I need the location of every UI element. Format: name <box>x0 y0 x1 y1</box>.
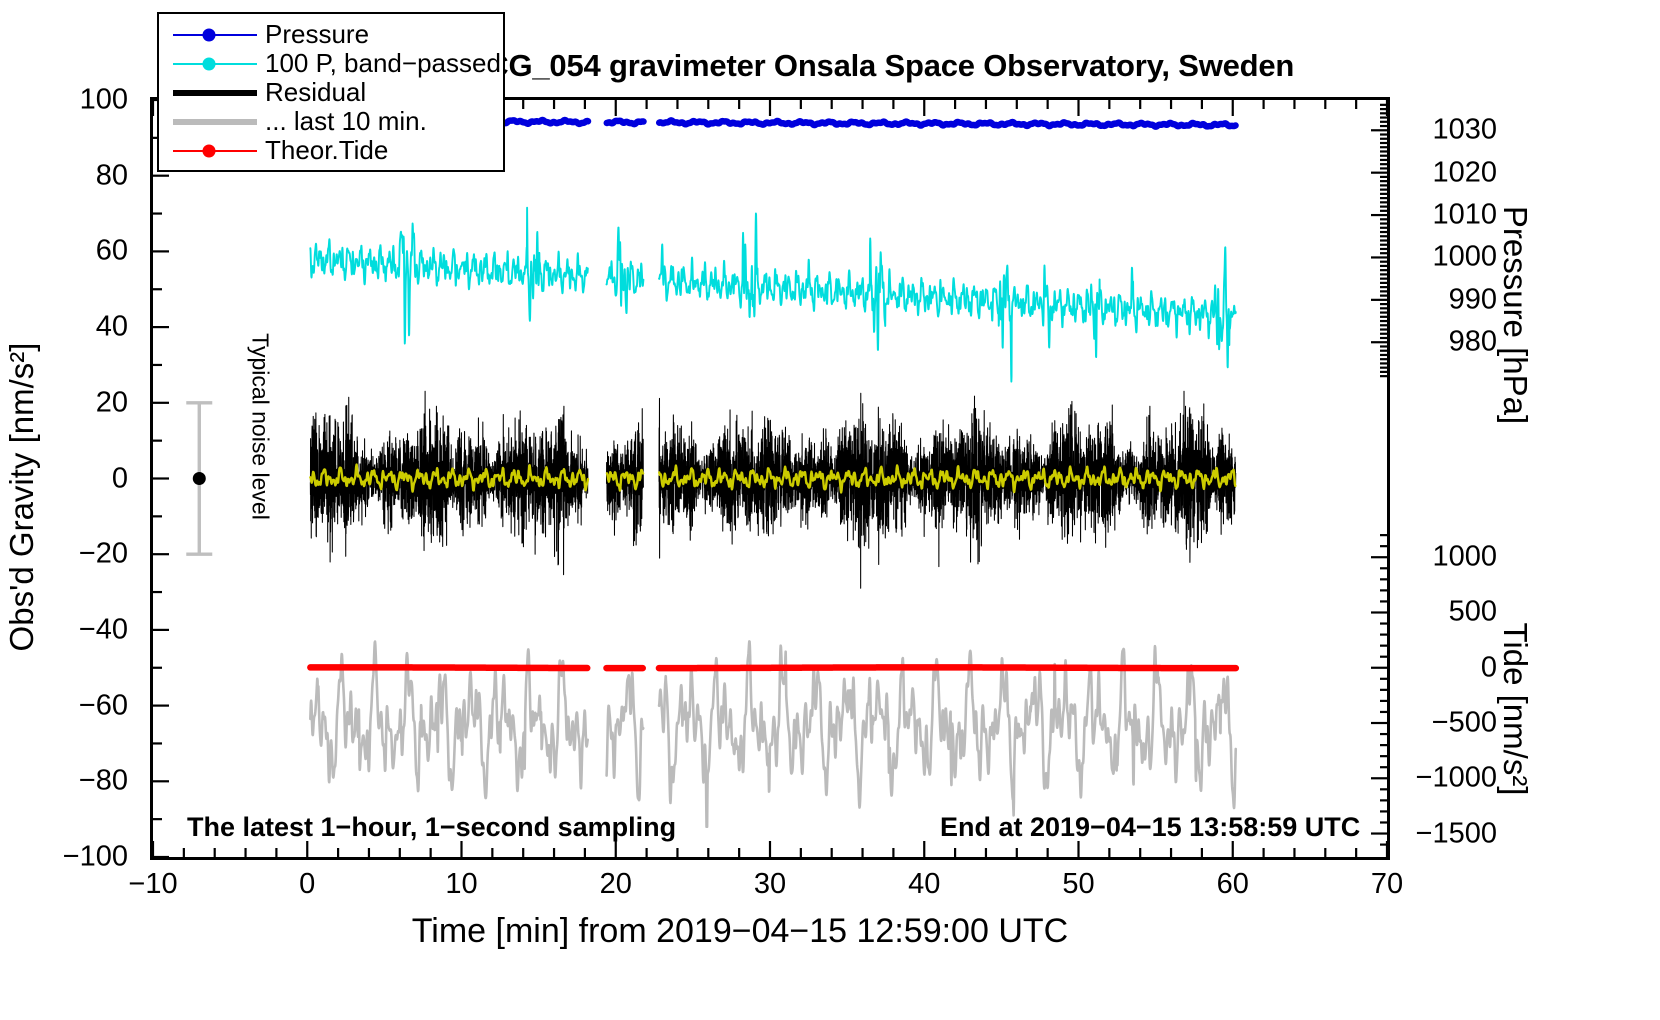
x-tick-0: 0 <box>299 868 315 901</box>
gravimeter-plot-figure: SCG_054 gravimeter Onsala Space Observat… <box>0 0 1660 1020</box>
legend-swatch-icon <box>173 53 257 75</box>
legend-item-4[interactable]: Theor.Tide <box>173 136 503 165</box>
legend-swatch-icon <box>173 82 257 104</box>
legend-label: Pressure <box>265 19 369 50</box>
legend-item-0[interactable]: Pressure <box>173 20 503 49</box>
pressure-tick-1030: 1030 <box>1402 114 1497 147</box>
legend-swatch-icon <box>173 111 257 133</box>
x-tick-70: 70 <box>1371 868 1403 901</box>
legend-item-2[interactable]: Residual <box>173 78 503 107</box>
pressure-tick-990: 990 <box>1402 283 1497 316</box>
x-tick-−10: −10 <box>128 868 177 901</box>
tide-tick-0: 0 <box>1402 651 1497 684</box>
legend-marker-dot <box>203 28 216 41</box>
tide-tick-1000: 1000 <box>1402 541 1497 574</box>
x-tick-10: 10 <box>445 868 477 901</box>
pressure-tick-1010: 1010 <box>1402 199 1497 232</box>
legend-item-1[interactable]: 100 P, band−passed <box>173 49 503 78</box>
legend: Pressure100 P, band−passedResidual... la… <box>157 12 505 172</box>
plot-canvas <box>153 100 1387 857</box>
x-axis-title: Time [min] from 2019−04−15 12:59:00 UTC <box>0 912 1480 951</box>
tide-tick--500: −500 <box>1402 707 1497 740</box>
caption-sampling: The latest 1−hour, 1−second sampling <box>187 812 676 843</box>
left-tick-80: 80 <box>18 159 128 192</box>
pressure-tick-980: 980 <box>1402 326 1497 359</box>
plot-area <box>150 97 1390 860</box>
tide-tick--1500: −1500 <box>1402 817 1497 850</box>
x-tick-60: 60 <box>1217 868 1249 901</box>
caption-end-time: End at 2019−04−15 13:58:59 UTC <box>940 812 1360 843</box>
legend-swatch-icon <box>173 24 257 46</box>
pressure-tick-1000: 1000 <box>1402 241 1497 274</box>
tide-tick-500: 500 <box>1402 596 1497 629</box>
left-tick-−100: −100 <box>18 841 128 874</box>
left-tick-100: 100 <box>18 84 128 117</box>
legend-label: Residual <box>265 77 366 108</box>
legend-marker-dot <box>203 144 216 157</box>
legend-label: 100 P, band−passed <box>265 48 501 79</box>
legend-label: ... last 10 min. <box>265 106 427 137</box>
legend-swatch-icon <box>173 140 257 162</box>
legend-item-3[interactable]: ... last 10 min. <box>173 107 503 136</box>
x-tick-30: 30 <box>754 868 786 901</box>
x-tick-20: 20 <box>600 868 632 901</box>
y-axis-title-gravity: Obs'd Gravity [nm/s²] <box>3 217 41 777</box>
pressure-tick-1020: 1020 <box>1402 156 1497 189</box>
legend-marker-dot <box>203 57 216 70</box>
tide-tick--1000: −1000 <box>1402 762 1497 795</box>
x-tick-40: 40 <box>908 868 940 901</box>
x-tick-50: 50 <box>1062 868 1094 901</box>
legend-label: Theor.Tide <box>265 135 388 166</box>
y-axis-title-tide: Tide [nm/s²] <box>1496 574 1534 844</box>
y-axis-title-pressure: Pressure [hPa] <box>1496 145 1534 485</box>
noise-level-label: Typical noise level <box>247 322 274 532</box>
